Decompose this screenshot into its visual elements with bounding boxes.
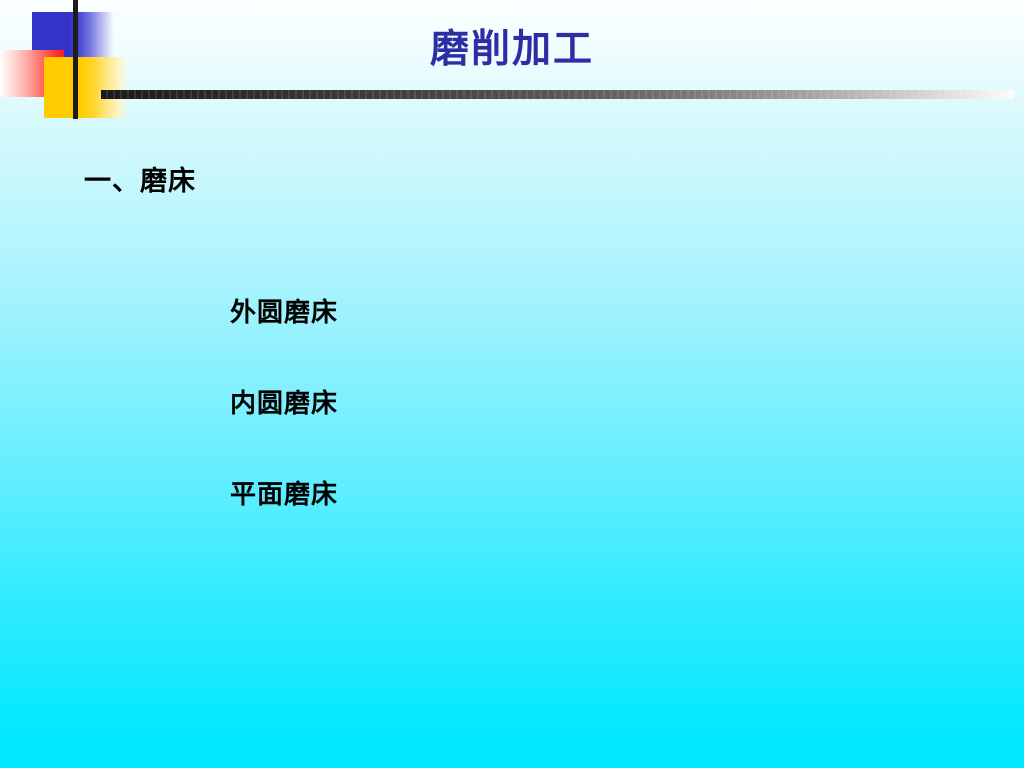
grinder-type-list: 外圆磨床 内圆磨床 平面磨床	[230, 298, 338, 510]
page-title: 磨削加工	[0, 26, 1024, 74]
list-item: 内圆磨床	[230, 389, 338, 419]
section-heading: 一、磨床	[84, 163, 196, 201]
list-item: 外圆磨床	[230, 298, 338, 328]
divider-tick-pattern	[101, 90, 1014, 99]
presentation-slide: 磨削加工 一、磨床 外圆磨床 内圆磨床 平面磨床	[0, 0, 1024, 768]
list-item: 平面磨床	[230, 480, 338, 510]
title-divider-bar	[101, 90, 1014, 99]
